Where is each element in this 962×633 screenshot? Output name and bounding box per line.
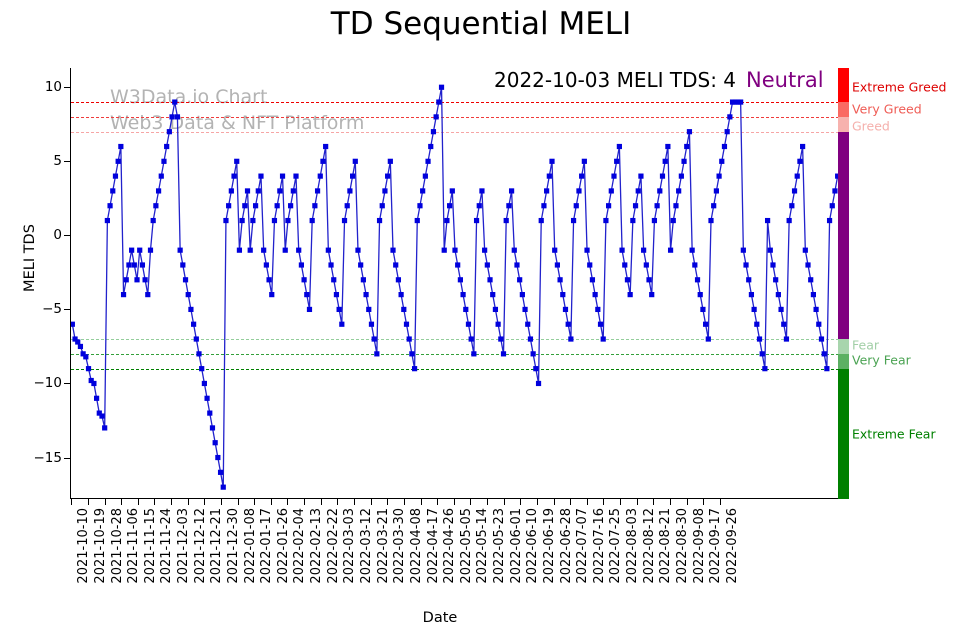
tds-marker <box>482 248 487 253</box>
tds-marker <box>358 262 363 267</box>
tds-marker <box>199 366 204 371</box>
tds-marker <box>725 129 730 134</box>
tds-marker <box>447 203 452 208</box>
tds-marker <box>113 174 118 179</box>
x-tick-label: 2021-12-12 <box>193 508 208 584</box>
tds-marker <box>805 262 810 267</box>
tds-marker <box>218 470 223 475</box>
tds-marker <box>638 174 643 179</box>
tds-marker <box>501 351 506 356</box>
tds-marker <box>401 307 406 312</box>
colorbar-segment-fear <box>838 339 849 354</box>
x-tick-label: 2022-01-17 <box>259 508 274 584</box>
tds-marker <box>423 174 428 179</box>
x-tick-label: 2022-02-13 <box>309 508 324 584</box>
tds-marker <box>320 159 325 164</box>
tds-marker <box>372 336 377 341</box>
tds-marker <box>137 248 142 253</box>
plot-area <box>70 68 838 499</box>
tds-marker <box>463 307 468 312</box>
tds-marker <box>649 292 654 297</box>
tds-marker <box>207 411 212 416</box>
x-tick-label: 2022-03-12 <box>359 508 374 584</box>
tds-marker <box>757 336 762 341</box>
tds-marker <box>598 322 603 327</box>
tds-marker <box>768 248 773 253</box>
tds-marker <box>83 354 88 359</box>
tds-marker <box>121 292 126 297</box>
tds-marker <box>816 322 821 327</box>
x-tick-mark <box>587 499 588 505</box>
tds-marker <box>412 366 417 371</box>
tds-marker <box>275 203 280 208</box>
x-tick-label: 2022-05-14 <box>475 508 490 584</box>
tds-marker <box>318 174 323 179</box>
tds-marker <box>382 188 387 193</box>
tds-marker <box>285 218 290 223</box>
tds-marker <box>762 366 767 371</box>
tds-marker <box>690 248 695 253</box>
tds-marker <box>496 322 501 327</box>
tds-marker <box>296 248 301 253</box>
tds-marker <box>746 277 751 282</box>
tds-marker <box>655 203 660 208</box>
tds-marker <box>641 248 646 253</box>
colorbar-segment-neutral <box>838 132 849 339</box>
tds-marker <box>264 262 269 267</box>
x-tick-label: 2022-09-08 <box>692 508 707 584</box>
x-tick-label: 2022-08-12 <box>642 508 657 584</box>
tds-marker <box>485 262 490 267</box>
x-tick-label: 2021-10-19 <box>93 508 108 584</box>
tds-marker <box>743 262 748 267</box>
tds-marker <box>71 322 75 327</box>
tds-marker <box>204 396 209 401</box>
tds-marker <box>460 292 465 297</box>
y-tick-label: 10 <box>45 79 62 95</box>
tds-marker <box>94 396 99 401</box>
tds-marker <box>692 262 697 267</box>
tds-marker <box>566 322 571 327</box>
x-tick-label: 2022-04-26 <box>442 508 457 584</box>
x-tick-mark <box>487 499 488 505</box>
tds-marker <box>493 307 498 312</box>
tds-marker <box>420 188 425 193</box>
tds-marker <box>698 292 703 297</box>
tds-marker <box>808 277 813 282</box>
tds-marker <box>668 248 673 253</box>
tds-marker <box>161 159 166 164</box>
tds-marker <box>514 262 519 267</box>
tds-marker <box>307 307 312 312</box>
tds-marker <box>444 218 449 223</box>
tds-marker <box>124 277 129 282</box>
tds-marker <box>256 188 261 193</box>
tds-marker <box>609 188 614 193</box>
tds-marker <box>350 174 355 179</box>
tds-marker <box>126 262 131 267</box>
tds-marker <box>708 218 713 223</box>
x-tick-mark <box>470 499 471 505</box>
tds-marker <box>353 159 358 164</box>
tds-marker <box>784 336 789 341</box>
tds-marker <box>552 248 557 253</box>
tds-marker <box>188 307 193 312</box>
colorbar-segment-very-fear <box>838 354 849 369</box>
tds-marker <box>266 277 271 282</box>
tds-marker <box>186 292 191 297</box>
tds-marker <box>78 344 83 349</box>
tds-marker <box>202 381 207 386</box>
tds-marker <box>541 203 546 208</box>
tds-marker <box>159 174 164 179</box>
tds-marker <box>568 336 573 341</box>
colorbar-segment-very-greed <box>838 102 849 117</box>
tds-marker <box>619 248 624 253</box>
y-tick-label: −10 <box>34 375 63 391</box>
tds-marker <box>312 203 317 208</box>
tds-marker <box>355 248 360 253</box>
tds-marker <box>258 174 263 179</box>
colorbar-label-fear: Fear <box>852 337 879 352</box>
tds-marker <box>646 277 651 282</box>
tds-marker <box>156 188 161 193</box>
x-tick-label: 2022-07-07 <box>575 508 590 584</box>
x-tick-label: 2022-05-05 <box>459 508 474 584</box>
tds-marker <box>676 188 681 193</box>
colorbar-segment-extreme-fear <box>838 369 849 499</box>
tds-marker <box>293 174 298 179</box>
tds-marker <box>781 322 786 327</box>
tds-marker <box>813 307 818 312</box>
tds-marker <box>687 129 692 134</box>
tds-marker <box>760 351 765 356</box>
x-tick-mark <box>71 499 72 505</box>
tds-marker <box>213 440 218 445</box>
x-tick-mark <box>337 499 338 505</box>
tds-marker <box>822 351 827 356</box>
tds-marker <box>525 322 530 327</box>
y-tick-mark <box>64 309 70 310</box>
tds-marker <box>754 322 759 327</box>
tds-marker <box>361 277 366 282</box>
tds-marker <box>196 351 201 356</box>
x-tick-label: 2021-10-28 <box>110 508 125 584</box>
x-tick-mark <box>121 499 122 505</box>
tds-marker <box>679 174 684 179</box>
tds-marker <box>652 218 657 223</box>
tds-marker <box>776 292 781 297</box>
tds-marker <box>614 159 619 164</box>
tds-marker <box>722 144 727 149</box>
tds-marker <box>574 203 579 208</box>
x-tick-mark <box>537 499 538 505</box>
tds-marker <box>479 188 484 193</box>
x-tick-mark <box>154 499 155 505</box>
tds-marker <box>657 188 662 193</box>
tds-marker <box>442 248 447 253</box>
x-tick-mark <box>670 499 671 505</box>
x-tick-label: 2022-08-21 <box>658 508 673 584</box>
tds-marker <box>628 292 633 297</box>
page-title: TD Sequential MELI <box>0 6 962 42</box>
tds-marker <box>681 159 686 164</box>
tds-marker <box>517 277 522 282</box>
tds-marker <box>663 159 668 164</box>
tds-marker <box>248 248 253 253</box>
x-tick-mark <box>105 499 106 505</box>
tds-marker <box>830 203 835 208</box>
tds-marker <box>719 159 724 164</box>
tds-marker <box>178 248 183 253</box>
tds-marker <box>310 218 315 223</box>
tds-marker <box>832 188 837 193</box>
x-tick-label: 2022-06-19 <box>542 508 557 584</box>
tds-marker <box>431 129 436 134</box>
tds-marker <box>487 277 492 282</box>
tds-marker <box>555 262 560 267</box>
tds-marker <box>304 292 309 297</box>
tds-marker <box>787 218 792 223</box>
x-tick-mark <box>404 499 405 505</box>
y-tick-mark <box>64 161 70 162</box>
tds-marker <box>466 322 471 327</box>
tds-marker <box>778 307 783 312</box>
tds-marker <box>706 336 711 341</box>
x-tick-label: 2021-12-03 <box>176 508 191 584</box>
tds-marker <box>539 218 544 223</box>
tds-marker <box>223 218 228 223</box>
tds-marker <box>164 144 169 149</box>
tds-marker <box>180 262 185 267</box>
chart-figure: TD Sequential MELI W3Data.io Chart Web3 … <box>0 0 962 633</box>
tds-marker <box>727 114 732 119</box>
tds-marker <box>428 144 433 149</box>
x-tick-label: 2021-12-30 <box>226 508 241 584</box>
tds-marker <box>105 218 110 223</box>
tds-series <box>71 68 839 499</box>
tds-marker <box>800 144 805 149</box>
tds-marker <box>390 248 395 253</box>
tds-marker <box>795 174 800 179</box>
tds-marker <box>590 277 595 282</box>
tds-marker <box>172 99 177 104</box>
tds-marker <box>560 292 565 297</box>
tds-marker <box>474 218 479 223</box>
tds-marker <box>323 144 328 149</box>
x-tick-label: 2021-11-24 <box>159 508 174 584</box>
tds-marker <box>175 114 180 119</box>
x-tick-label: 2022-06-01 <box>509 508 524 584</box>
tds-marker <box>533 366 538 371</box>
tds-marker <box>792 188 797 193</box>
tds-marker <box>504 218 509 223</box>
x-tick-label: 2021-11-06 <box>126 508 141 584</box>
tds-marker <box>471 351 476 356</box>
tds-marker <box>587 262 592 267</box>
x-tick-label: 2022-01-08 <box>243 508 258 584</box>
tds-marker <box>339 322 344 327</box>
tds-marker <box>272 218 277 223</box>
tds-marker <box>455 262 460 267</box>
tds-marker <box>520 292 525 297</box>
x-tick-mark <box>570 499 571 505</box>
tds-marker <box>369 322 374 327</box>
tds-marker <box>450 188 455 193</box>
tds-marker <box>425 159 430 164</box>
tds-marker <box>700 307 705 312</box>
tds-marker <box>803 248 808 253</box>
x-tick-label: 2022-02-04 <box>292 508 307 584</box>
x-tick-label: 2022-09-26 <box>725 508 740 584</box>
x-tick-mark <box>720 499 721 505</box>
x-tick-label: 2022-03-30 <box>392 508 407 584</box>
tds-marker <box>129 248 134 253</box>
x-tick-label: 2022-07-25 <box>608 508 623 584</box>
x-tick-mark <box>554 499 555 505</box>
x-tick-mark <box>371 499 372 505</box>
tds-marker <box>153 203 158 208</box>
tds-marker <box>671 218 676 223</box>
tds-marker <box>603 218 608 223</box>
tds-marker <box>91 381 96 386</box>
x-tick-mark <box>387 499 388 505</box>
tds-marker <box>576 188 581 193</box>
tds-marker <box>407 336 412 341</box>
tds-marker <box>770 262 775 267</box>
x-tick-label: 2022-08-30 <box>675 508 690 584</box>
tds-marker <box>528 336 533 341</box>
plot-clip <box>71 68 839 499</box>
x-tick-label: 2021-11-15 <box>143 508 158 584</box>
tds-marker <box>477 203 482 208</box>
x-tick-label: 2022-07-16 <box>592 508 607 584</box>
tds-marker <box>280 174 285 179</box>
tds-marker <box>75 339 80 344</box>
tds-marker <box>509 188 514 193</box>
x-tick-label: 2022-04-08 <box>409 508 424 584</box>
tds-marker <box>490 292 495 297</box>
x-tick-mark <box>520 499 521 505</box>
tds-marker <box>579 174 584 179</box>
y-tick-label: 0 <box>53 227 62 243</box>
y-axis-label: MELI TDS <box>22 158 38 358</box>
y-tick-mark <box>64 235 70 236</box>
tds-marker <box>582 159 587 164</box>
tds-marker <box>773 277 778 282</box>
tds-marker <box>703 322 708 327</box>
x-axis-label: Date <box>0 610 880 626</box>
tds-marker <box>665 144 670 149</box>
tds-marker <box>417 203 422 208</box>
tds-marker <box>145 292 150 297</box>
colorbar-label-extreme-fear: Extreme Fear <box>852 426 936 441</box>
tds-marker <box>337 307 342 312</box>
tds-marker <box>331 277 336 282</box>
x-tick-mark <box>321 499 322 505</box>
tds-marker <box>622 262 627 267</box>
tds-marker <box>169 114 174 119</box>
tds-marker <box>226 203 231 208</box>
tds-marker <box>547 174 552 179</box>
tds-marker <box>563 307 568 312</box>
x-tick-label: 2022-05-23 <box>492 508 507 584</box>
x-tick-label: 2022-09-17 <box>708 508 723 584</box>
x-tick-label: 2022-02-22 <box>326 508 341 584</box>
y-tick-label: −15 <box>34 450 63 466</box>
x-tick-mark <box>271 499 272 505</box>
tds-marker <box>328 262 333 267</box>
tds-marker <box>240 218 245 223</box>
tds-marker <box>716 174 721 179</box>
colorbar-label-greed: Greed <box>852 118 890 133</box>
x-tick-mark <box>138 499 139 505</box>
tds-marker <box>506 203 511 208</box>
x-tick-label: 2022-06-28 <box>559 508 574 584</box>
tds-marker <box>498 336 503 341</box>
tds-marker <box>404 322 409 327</box>
tds-marker <box>452 248 457 253</box>
tds-marker <box>215 455 220 460</box>
tds-marker <box>326 248 331 253</box>
x-tick-mark <box>454 499 455 505</box>
tds-marker <box>183 277 188 282</box>
tds-marker <box>660 174 665 179</box>
x-tick-mark <box>687 499 688 505</box>
x-tick-label: 2022-08-03 <box>625 508 640 584</box>
y-tick-mark <box>64 383 70 384</box>
tds-marker <box>458 277 463 282</box>
tds-marker <box>409 351 414 356</box>
tds-marker <box>118 144 123 149</box>
tds-marker <box>345 203 350 208</box>
tds-marker <box>283 248 288 253</box>
tds-marker <box>765 218 770 223</box>
tds-marker <box>140 262 145 267</box>
tds-marker <box>571 218 576 223</box>
tds-marker <box>102 425 107 430</box>
tds-marker <box>261 248 266 253</box>
tds-marker <box>549 159 554 164</box>
tds-marker <box>544 188 549 193</box>
tds-marker <box>399 292 404 297</box>
tds-marker <box>231 174 236 179</box>
x-tick-label: 2021-12-21 <box>209 508 224 584</box>
tds-marker <box>242 203 247 208</box>
x-tick-label: 2022-01-26 <box>276 508 291 584</box>
y-tick-mark <box>64 458 70 459</box>
tds-marker <box>714 188 719 193</box>
tds-marker <box>819 336 824 341</box>
tds-marker <box>393 262 398 267</box>
tds-marker <box>811 292 816 297</box>
x-tick-label: 2022-04-17 <box>426 508 441 584</box>
tds-marker <box>99 413 104 418</box>
x-tick-mark <box>620 499 621 505</box>
tds-marker <box>606 203 611 208</box>
tds-marker <box>148 248 153 253</box>
tds-marker <box>237 248 242 253</box>
tds-marker <box>396 277 401 282</box>
tds-marker <box>593 292 598 297</box>
tds-marker <box>245 188 250 193</box>
x-tick-mark <box>437 499 438 505</box>
tds-marker <box>636 188 641 193</box>
colorbar-segment-extreme-greed <box>838 68 849 102</box>
tds-marker <box>366 307 371 312</box>
tds-marker <box>194 336 199 341</box>
colorbar-label-extreme-greed: Extreme Greed <box>852 80 946 95</box>
